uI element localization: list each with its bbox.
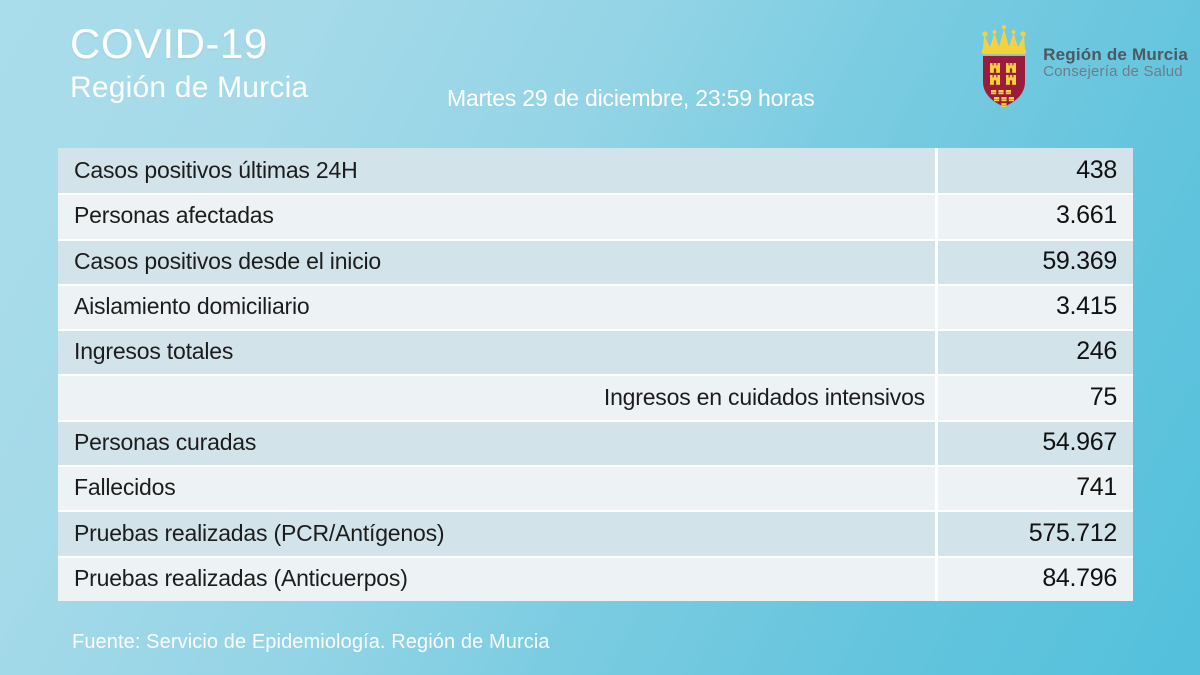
table-row-label: Ingresos totales [58,338,935,365]
page-subtitle: Región de Murcia [70,70,308,106]
table-row-label: Casos positivos desde el inicio [58,248,935,275]
table-row: Casos positivos últimas 24H438 [58,148,1133,193]
table-row-value: 438 [938,156,1133,185]
table-row-value: 246 [938,337,1133,366]
source-footer: Fuente: Servicio de Epidemiología. Regió… [72,631,550,654]
table-row-label: Personas curadas [58,429,935,456]
table-row: Casos positivos desde el inicio59.369 [58,239,1133,284]
table-row-value: 54.967 [938,428,1133,457]
table-row: Ingresos totales246 [58,329,1133,374]
table-row-label: Aislamiento domiciliario [58,293,935,320]
table-row-value: 3.661 [938,201,1133,230]
table-row-value: 59.369 [938,247,1133,276]
table-row-value: 741 [938,473,1133,502]
table-row: Aislamiento domiciliario3.415 [58,284,1133,329]
table-row-label: Fallecidos [58,474,935,501]
table-row-value: 84.796 [938,564,1133,593]
table-row: Personas afectadas3.661 [58,193,1133,238]
logo-department: Consejería de Salud [1043,64,1188,81]
date-timestamp: Martes 29 de diciembre, 23:59 horas [447,85,815,112]
table-row: Pruebas realizadas (Anticuerpos)84.796 [58,556,1133,601]
statistics-table: Casos positivos últimas 24H438Personas a… [58,148,1133,601]
covid-dashboard-slide: COVID-19 Región de Murcia Martes 29 de d… [0,0,1200,675]
logo-text: Región de Murcia Consejería de Salud [1043,45,1188,85]
table-row: Fallecidos741 [58,465,1133,510]
logo-title: Región de Murcia [1043,45,1188,64]
coat-of-arms-icon [975,20,1033,110]
table-row-label: Pruebas realizadas (PCR/Antígenos) [58,520,935,547]
table-row-label: Pruebas realizadas (Anticuerpos) [58,565,935,592]
page-title: COVID-19 [70,22,308,66]
title-block: COVID-19 Región de Murcia [70,22,308,106]
table-row-label: Ingresos en cuidados intensivos [58,384,935,411]
header: COVID-19 Región de Murcia Martes 29 de d… [0,0,1200,140]
logo: Región de Murcia Consejería de Salud [975,20,1188,110]
table-row: Personas curadas54.967 [58,420,1133,465]
table-row-value: 575.712 [938,519,1133,548]
table-row-label: Casos positivos últimas 24H [58,157,935,184]
table-row: Pruebas realizadas (PCR/Antígenos)575.71… [58,510,1133,555]
table-row-value: 75 [938,383,1133,412]
table-row-value: 3.415 [938,292,1133,321]
table-row-label: Personas afectadas [58,202,935,229]
table-row: Ingresos en cuidados intensivos75 [58,374,1133,419]
